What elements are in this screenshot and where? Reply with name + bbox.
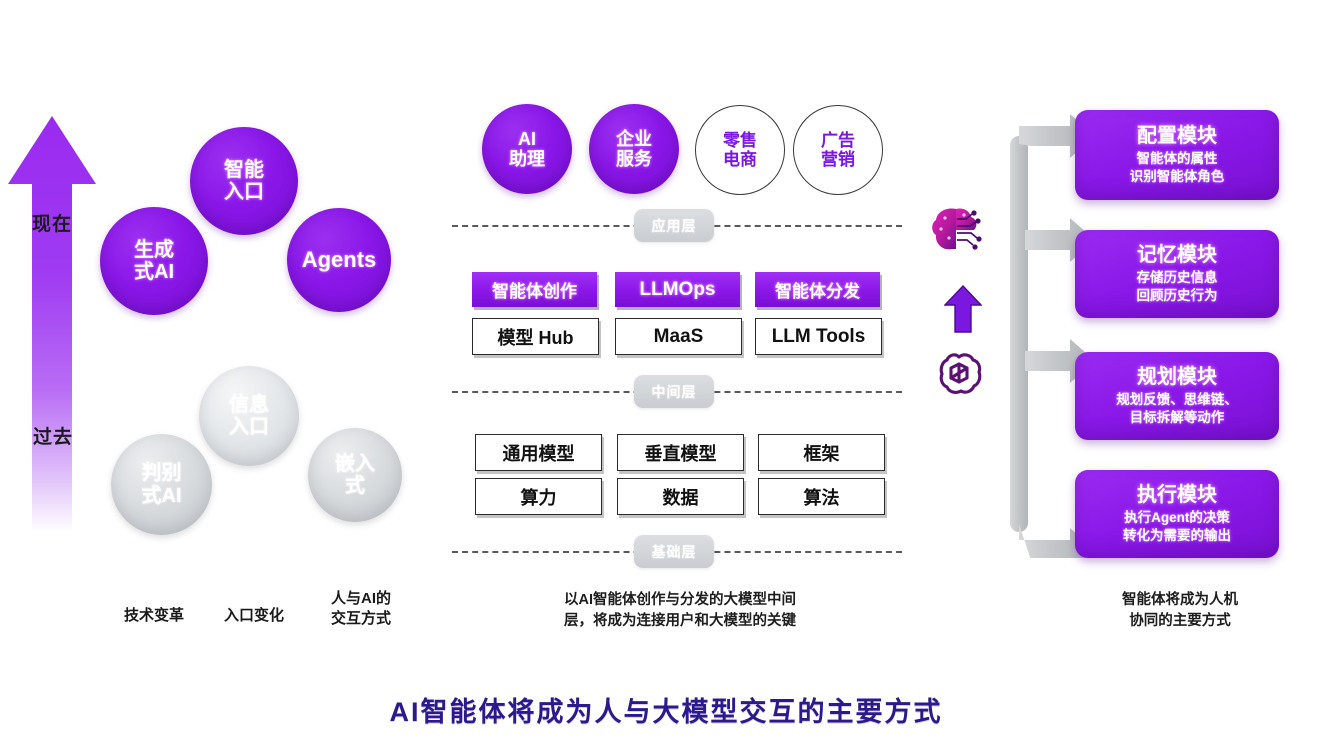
caption-line: 协同的主要方式	[1065, 611, 1295, 632]
block-vertical-model[interactable]: 垂直模型	[617, 434, 744, 471]
caption-line: 智能体将成为人机	[1065, 590, 1295, 611]
block-label: 通用模型	[503, 440, 575, 466]
node-smart-entry[interactable]: 智能 入口	[190, 127, 298, 235]
block-label: MaaS	[654, 326, 704, 348]
node-line: 生成	[134, 239, 174, 261]
module-execution[interactable]: 执行模块 执行Agent的决策 转化为需要的输出	[1075, 470, 1279, 558]
app-circle-line: 电商	[723, 150, 757, 169]
node-line: 式AI	[142, 485, 182, 507]
axis-label-now: 现在	[30, 215, 74, 235]
node-line: 式AI	[134, 261, 174, 283]
block-label: 数据	[663, 484, 699, 510]
node-line: 入口	[229, 416, 269, 438]
purple-up-arrow-icon	[944, 285, 982, 333]
layer-tag-label: 中间层	[652, 382, 697, 402]
module-line: 识别智能体角色	[1130, 168, 1225, 186]
node-line: 入口	[224, 181, 264, 203]
middle-panel: AI 助理 企业 服务 零售 电商 广告 营销 应用层 智能体创作 LLMOps…	[440, 0, 910, 660]
layer-tag-middle: 中间层	[634, 375, 714, 408]
caption-line: 层，将成为连接用户和大模型的关键	[490, 611, 870, 632]
layer-tag-label: 应用层	[652, 216, 697, 236]
layer-tag-foundation: 基础层	[634, 535, 714, 568]
node-line: 嵌入	[335, 453, 375, 475]
right-caption: 智能体将成为人机 协同的主要方式	[1065, 590, 1295, 632]
column-label-human-ai-interaction: 人与AI的 交互方式	[299, 589, 423, 630]
block-maas[interactable]: MaaS	[615, 318, 742, 355]
app-circle-ad-marketing[interactable]: 广告 营销	[793, 105, 883, 195]
node-line: 智能	[224, 159, 264, 181]
module-line: 目标拆解等动作	[1130, 409, 1225, 427]
app-circle-line: 广告	[821, 131, 855, 150]
left-panel: 现在 过去 生成 式AI 智能 入口 Agents 信息 入口 判别 式AI 嵌…	[0, 0, 440, 660]
app-circle-line: 营销	[821, 150, 855, 169]
block-framework[interactable]: 框架	[758, 434, 885, 471]
block-label: LLMOps	[640, 279, 716, 301]
footer-title: AI智能体将成为人与大模型交互的主要方式	[0, 690, 1332, 729]
module-title: 记忆模块	[1137, 243, 1217, 267]
slide-canvas: 现在 过去 生成 式AI 智能 入口 Agents 信息 入口 判别 式AI 嵌…	[0, 0, 1332, 756]
block-label: 智能体分发	[775, 277, 860, 302]
node-generative-ai[interactable]: 生成 式AI	[100, 207, 208, 315]
node-discriminative-ai[interactable]: 判别 式AI	[111, 434, 212, 535]
column-label-line: 技术变革	[124, 607, 184, 624]
block-algorithm[interactable]: 算法	[758, 478, 885, 515]
module-line: 转化为需要的输出	[1123, 527, 1231, 545]
module-planning[interactable]: 规划模块 规划反馈、思维链、 目标拆解等动作	[1075, 352, 1279, 440]
module-line: 规划反馈、思维链、	[1116, 391, 1238, 409]
block-label: 框架	[804, 440, 840, 466]
layer-tag-label: 基础层	[652, 542, 697, 562]
block-llmops[interactable]: LLMOps	[615, 272, 740, 307]
app-circle-ai-assistant[interactable]: AI 助理	[482, 104, 572, 194]
block-model-hub[interactable]: 模型 Hub	[472, 318, 599, 355]
openai-logo-icon	[934, 348, 984, 398]
module-line: 执行Agent的决策	[1124, 509, 1230, 527]
node-agents[interactable]: Agents	[287, 208, 391, 312]
block-label: LLM Tools	[772, 326, 866, 348]
column-label-line: 交互方式	[299, 609, 423, 629]
layer-tag-application: 应用层	[634, 209, 714, 242]
block-general-model[interactable]: 通用模型	[475, 434, 602, 471]
up-arrow-gradient-icon	[6, 112, 98, 532]
block-agent-distribution[interactable]: 智能体分发	[755, 272, 880, 307]
module-line: 存储历史信息	[1137, 269, 1218, 287]
column-label-line: 人与AI的	[299, 589, 423, 609]
node-information-entry[interactable]: 信息 入口	[199, 366, 299, 466]
app-circle-enterprise-service[interactable]: 企业 服务	[589, 104, 679, 194]
middle-caption: 以AI智能体创作与分发的大模型中间 层，将成为连接用户和大模型的关键	[490, 590, 870, 632]
axis-past-text: 过去	[33, 427, 73, 448]
block-label: 算力	[521, 484, 557, 510]
column-label-line: 入口变化	[224, 607, 284, 624]
module-memory[interactable]: 记忆模块 存储历史信息 回顾历史行为	[1075, 230, 1279, 318]
block-label: 算法	[804, 484, 840, 510]
axis-now-text: 现在	[32, 214, 72, 235]
node-embedded[interactable]: 嵌入 式	[308, 428, 402, 522]
module-line: 回顾历史行为	[1137, 287, 1218, 305]
module-title: 规划模块	[1137, 365, 1217, 389]
module-title: 配置模块	[1137, 124, 1217, 148]
block-agent-creation[interactable]: 智能体创作	[472, 272, 597, 307]
module-title: 执行模块	[1137, 483, 1217, 507]
column-label-entry-change: 入口变化	[192, 606, 316, 626]
node-line: 信息	[229, 394, 269, 416]
axis-label-past: 过去	[30, 428, 76, 448]
app-circle-line: 零售	[723, 131, 757, 150]
app-circle-line: 助理	[509, 149, 545, 169]
module-line: 智能体的属性	[1137, 150, 1218, 168]
block-data[interactable]: 数据	[617, 478, 744, 515]
block-label: 智能体创作	[492, 277, 577, 302]
block-label: 模型 Hub	[498, 324, 574, 350]
app-circle-line: AI	[518, 129, 536, 149]
node-line: 判别	[142, 462, 182, 484]
node-line: Agents	[302, 248, 377, 273]
app-circle-line: 服务	[616, 149, 652, 169]
block-llm-tools[interactable]: LLM Tools	[755, 318, 882, 355]
caption-line: 以AI智能体创作与分发的大模型中间	[490, 590, 870, 611]
block-compute[interactable]: 算力	[475, 478, 602, 515]
node-line: 式	[345, 475, 365, 497]
module-config[interactable]: 配置模块 智能体的属性 识别智能体角色	[1075, 110, 1279, 200]
app-circle-line: 企业	[616, 129, 652, 149]
block-label: 垂直模型	[645, 440, 717, 466]
ai-brain-circuit-icon	[930, 205, 986, 257]
app-circle-retail-ecommerce[interactable]: 零售 电商	[695, 105, 785, 195]
right-panel: 配置模块 智能体的属性 识别智能体角色 记忆模块 存储历史信息 回顾历史行为 规…	[910, 0, 1332, 660]
